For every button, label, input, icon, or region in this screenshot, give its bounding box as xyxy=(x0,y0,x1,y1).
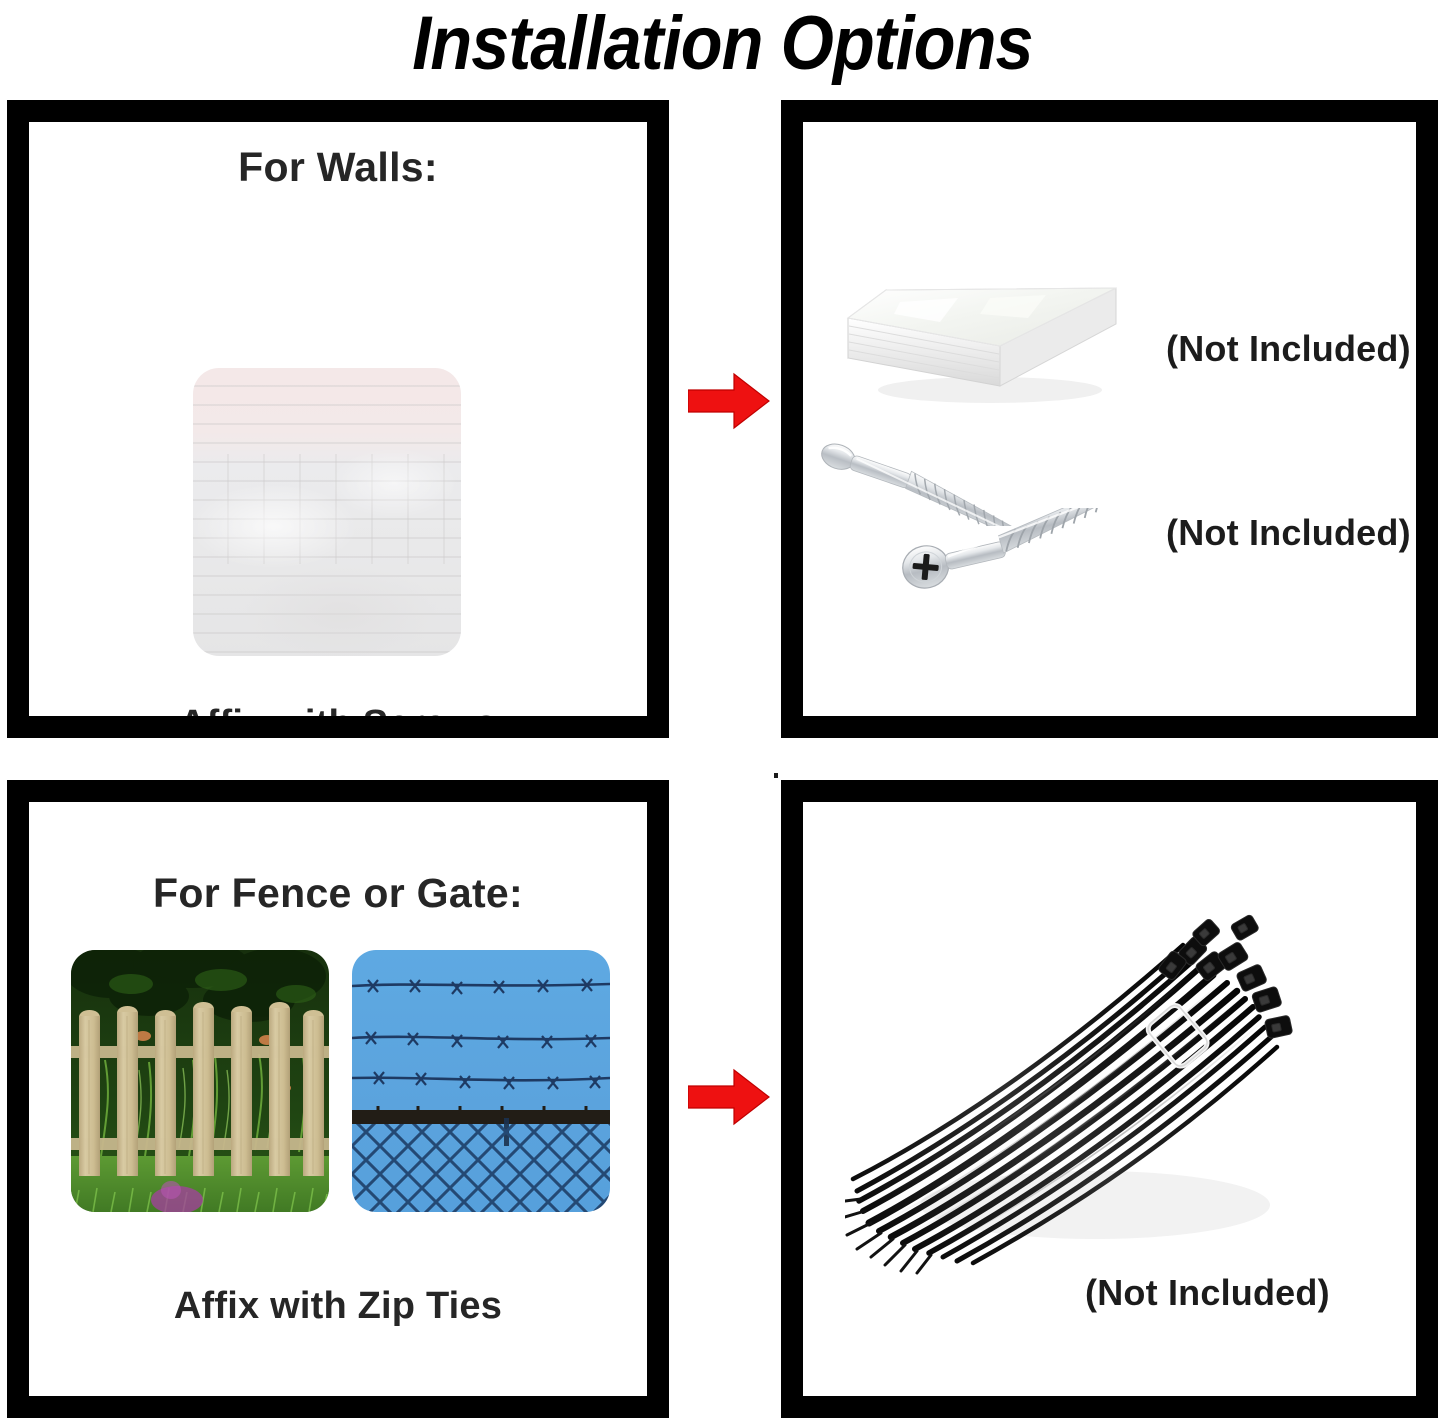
page-title: Installation Options xyxy=(72,0,1373,90)
chain-link-fence-photo xyxy=(352,950,610,1212)
right-arrow-walls xyxy=(688,372,770,430)
panel-for-walls: For Walls: Affix with Screws or Double S… xyxy=(7,100,669,738)
brick-paint-mottle xyxy=(193,368,461,656)
brick-wall-swatch xyxy=(193,368,461,656)
tape-not-included-label: (Not Included) xyxy=(1166,328,1411,370)
right-arrow-fence xyxy=(688,1068,770,1126)
walls-caption-line1: Affix with Screws xyxy=(29,700,647,738)
zip-ties-bundle-icon xyxy=(845,905,1295,1275)
panel-wall-hardware xyxy=(781,100,1438,738)
wooden-picket-fence-photo xyxy=(71,950,329,1212)
fence-heading: For Fence or Gate: xyxy=(29,870,647,917)
screws-not-included-label: (Not Included) xyxy=(1166,512,1411,554)
panel-wall-hardware-inner xyxy=(803,122,1416,716)
panel-for-walls-inner: For Walls: Affix with Screws or Double S… xyxy=(29,122,647,716)
zip-ties-not-included-label: (Not Included) xyxy=(1085,1272,1330,1314)
fence-caption-line1: Affix with Zip Ties xyxy=(29,1282,647,1331)
walls-heading: For Walls: xyxy=(29,144,647,191)
wood-screw-icon-bottom xyxy=(890,508,1160,603)
stray-dot-artifact xyxy=(774,773,778,778)
double-sided-tape-stack-icon xyxy=(840,218,1130,408)
